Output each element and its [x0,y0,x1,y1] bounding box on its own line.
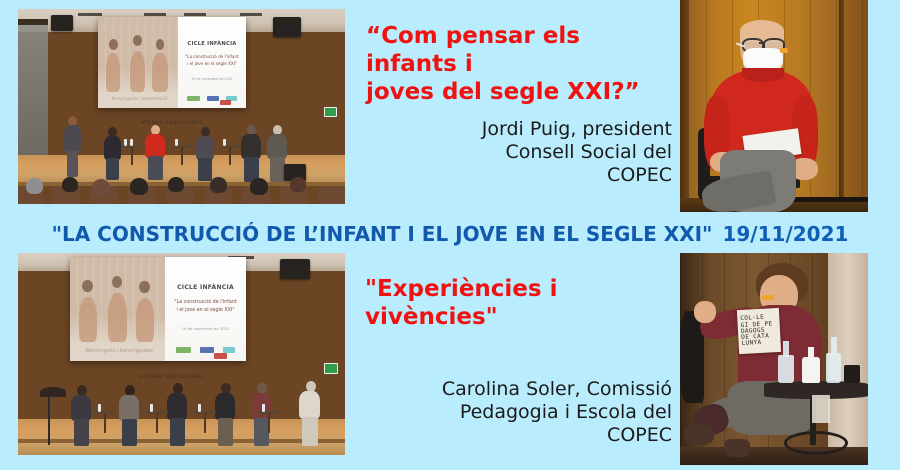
side-table-leg [229,147,231,165]
microphone-stand [48,393,50,445]
wood-dark-seam [680,0,689,212]
panelist-1 [62,116,86,178]
boot [724,439,750,457]
slide-logo-row [183,96,240,101]
projection-screen: CICLE INFÀNCIA "La construcció de l'infa… [70,257,246,361]
bottom-caption-line-1: Carolina Soler, Comissió [370,378,672,401]
panelist-1 [70,385,96,447]
slide-person-body [106,53,120,91]
photo-portrait-top-right [680,0,868,212]
panelist-body [145,134,165,158]
side-table-leg [156,413,158,433]
bottom-headline-line-1: "Experiències i vivències" [365,275,665,331]
bottom-caption-line-3: COPEC [370,424,672,447]
slide-person-body [130,51,145,92]
glasses-bridge [759,42,764,44]
hand-sanitiser-bottle [802,357,820,383]
slide-text-panel: CICLE INFÀNCIA "La construcció de l'infa… [178,17,246,108]
water-bottle [223,139,226,146]
headset-microphone [780,48,788,53]
panelist-body [267,134,287,159]
logo-chip-blue [200,347,214,353]
photo-auditorium-bottom-left: CICLE INFÀNCIA "La construcció de l'infa… [18,253,345,455]
ateneu-venue-label: ATENEU BARCELONÈS [122,375,222,380]
emergency-exit-sign [324,107,337,117]
panelist-body [119,395,139,421]
side-table-leg [268,413,270,433]
audience-head [290,177,306,192]
top-caption-line-1: Jordi Puig, president [370,118,672,141]
logo-chip-green [187,96,200,101]
boot [684,425,714,445]
slide-title: CICLE INFÀNCIA [182,41,242,47]
ceiling-strip [144,13,166,16]
photo-auditorium-top-left: CICLE INFÀNCIA "La construcció de l'infa… [18,9,345,204]
sweater-collar [742,68,784,82]
slide-text-panel: CICLE INFÀNCIA "La construcció de l'infa… [165,257,246,361]
top-caption-line-2: Consell Social del [370,141,672,164]
water-bottle [175,139,178,146]
audience-head [92,179,110,196]
water-bottle [262,404,265,412]
audience-head [168,177,184,192]
panelist-5 [250,383,276,447]
photo-portrait-bottom-right: COL·LE GI DE PE DAGOGS DE CATA LUNYA [680,253,868,465]
audience-head [210,177,227,193]
window-frame [18,19,48,25]
audience-head [26,178,43,194]
ceiling-speaker-left [51,15,73,31]
ateneu-venue-label: ATENEU BARCELONÈS [122,121,222,126]
slide-person-body [79,297,97,343]
logo-chip-green [176,347,191,353]
panelist-5 [240,125,268,183]
dark-cup [844,365,860,383]
sign-line: LUNYA [742,339,778,347]
panelist-legs [170,418,185,446]
top-headline: “Com pensar els infants i joves del segl… [366,22,666,106]
logo-chip-red [214,353,227,359]
slide-person-head [82,280,92,292]
water-bottle [826,353,841,383]
water-bottle [150,404,153,412]
water-bottle-neck [783,341,789,357]
panelist-6 [298,381,326,447]
audience-head [250,178,268,195]
panelist-body [71,395,91,421]
headset-microphone [762,295,774,300]
water-bottle [98,404,101,412]
ateneu-emblem: ◦◦◦◦◦◦ [122,365,222,371]
audience-head [130,178,148,195]
slide-subtitle-line2: i el jove en el segle XXI" [170,308,241,313]
water-bottle [130,139,133,146]
floor-strip [790,197,868,202]
water-bottle [778,355,794,383]
slide-welcome-text: Benvinguts i benvingudes [77,348,161,354]
logo-chip-red [220,100,231,105]
top-headline-line-1: “Com pensar els infants i [366,22,666,78]
panelist-legs [254,418,269,446]
slide-person-head [156,39,165,50]
side-table-leg [204,413,206,433]
bottom-headline: "Experiències i vivències" [365,275,665,331]
side-window [18,19,48,159]
audience [18,176,345,204]
top-caption-line-3: COPEC [370,164,672,187]
slide-person-body [136,298,154,343]
wood-dark-seam [839,0,844,212]
projection-screen: CICLE INFÀNCIA "La construcció de l'infa… [98,17,246,108]
side-table-leg [131,147,133,165]
slide-person-head [109,39,118,50]
slide-photo [98,17,178,108]
slide-person-head [133,35,142,46]
panelist-body [299,391,320,419]
ateneu-emblem: ◦◦◦◦◦◦ [122,113,222,119]
panelist-legs [122,419,137,446]
panelist-2 [118,385,144,447]
water-bottle-neck [831,337,837,355]
panelist-body [64,125,81,153]
slide-logo-row [172,347,240,353]
emergency-exit-sign [324,363,338,374]
logo-chip-teal [223,347,235,353]
logo-chip-blue [207,96,219,101]
panelist-4 [214,383,240,447]
napkin [812,395,830,423]
banner-title: "LA CONSTRUCCIÓ DE L’INFANT I EL JOVE EN… [52,222,713,246]
slide-subtitle-line1: "La construcció de l'infant [170,300,241,305]
slide-person-body [108,293,127,342]
slide-person-head [112,276,122,288]
panelist-body [167,393,187,420]
panelist-legs [67,151,78,177]
ceiling-strip [78,13,102,16]
panelist-3 [166,383,192,447]
panelist-2 [102,127,126,179]
side-table-leg [181,147,183,165]
slide-subtitle-line2: i el jove en el segle XXI" [182,61,242,66]
slide-date: 19 de novembre de 2021 [170,326,241,331]
slide-welcome-text: Benvinguda i presentació [104,97,175,102]
table-foot-ring [784,431,848,455]
water-bottle [124,139,127,146]
top-headline-line-2: joves del segle XXI?” [366,78,666,106]
bottom-caption-line-2: Pedagogia i Escola del [370,401,672,424]
panelist-3 [144,125,172,181]
slide-photo [70,257,165,361]
poster-canvas: CICLE INFÀNCIA "La construcció de l'infa… [0,0,900,470]
top-speaker-caption: Jordi Puig, president Consell Social del… [370,118,672,188]
ceiling-speaker-right [280,259,310,279]
ceiling-strip [184,13,206,16]
panelist-legs [74,419,89,446]
slide-person-head [139,281,149,293]
banner-date: 19/11/2021 [722,222,848,246]
panelist-4 [194,127,220,181]
panelist-body [196,136,214,160]
ceiling-strip [240,13,262,16]
panelist-body [241,134,261,159]
slide-person-body [152,53,167,91]
pedagogues-sign[interactable]: COL·LE GI DE PE DAGOGS DE CATA LUNYA [737,308,781,354]
panelist-legs [218,418,233,446]
side-table-leg [104,413,106,433]
slide-date: 19 de novembre de 2021 [182,77,242,81]
slide-title: CICLE INFÀNCIA [170,284,241,291]
sanitiser-pump [808,347,814,359]
panelist-body [104,136,121,160]
seat [318,186,345,204]
panelist-body [215,393,235,420]
bottom-speaker-caption: Carolina Soler, Comissió Pedagogia i Esc… [370,378,672,448]
coat-rack [40,387,66,397]
panelist-legs [302,417,318,446]
slide-subtitle-line1: "La construcció de l'infant [182,54,242,59]
audience-head [62,177,78,192]
raised-hand [694,301,716,323]
event-banner: "LA CONSTRUCCIÓ DE L’INFANT I EL JOVE EN… [0,222,900,246]
ceiling-speaker-right [273,17,301,37]
water-bottle [198,404,201,412]
